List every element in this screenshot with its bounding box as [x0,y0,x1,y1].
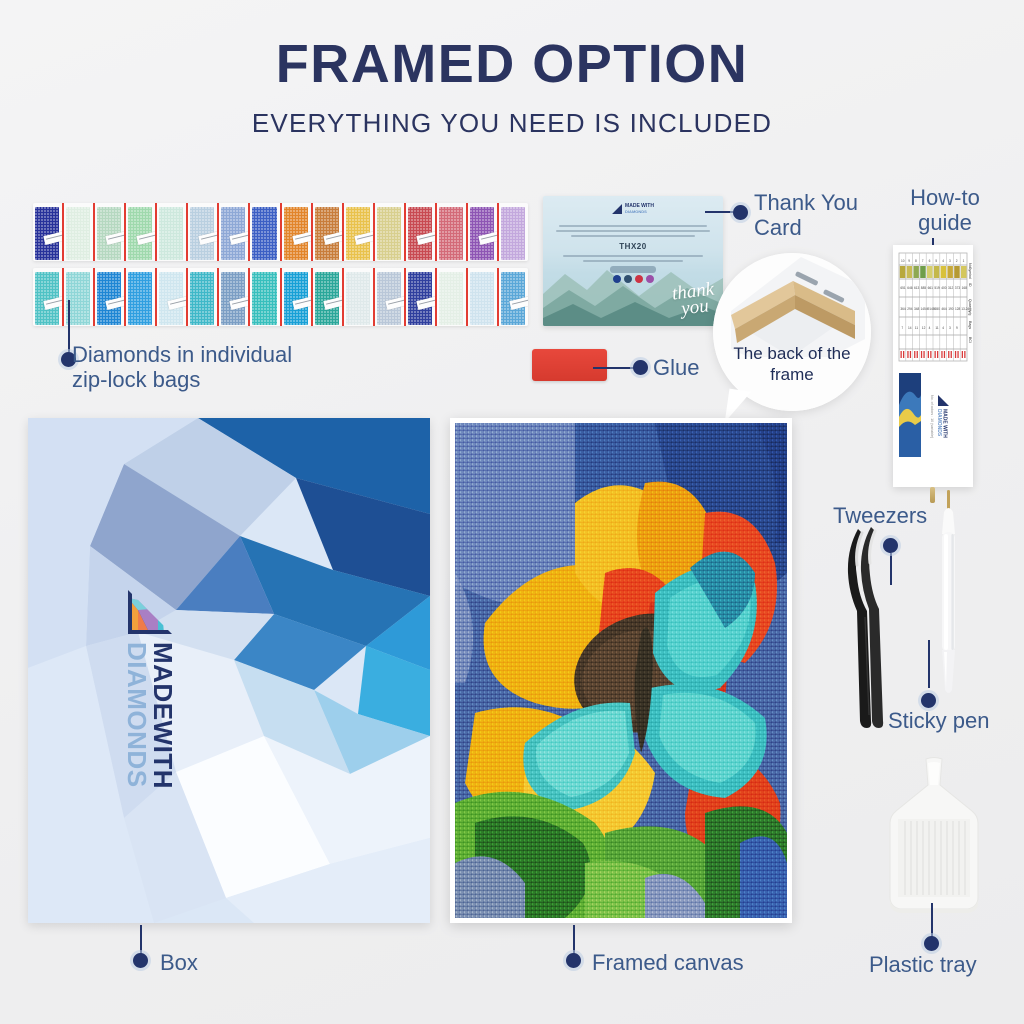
card-body-line [556,230,710,232]
leader-diamonds [68,300,70,352]
tweezers-item [845,525,905,730]
framed-canvas [450,418,792,923]
callout-sticky-pen: Sticky pen [888,708,990,733]
diamond-bag [157,268,188,326]
svg-text:10: 10 [901,259,905,263]
svg-text:7: 7 [901,326,903,330]
card-promo-code: THX20 [553,242,713,251]
svg-text:650: 650 [935,307,941,311]
diamond-bag [344,268,375,326]
svg-text:11: 11 [915,326,919,330]
svg-text:651: 651 [900,286,906,290]
diamond-bag [250,268,281,326]
svg-text:190: 190 [948,307,954,311]
plastic-tray-illustration [874,757,994,932]
frame-back-bubble: The back of the frame [713,253,871,411]
svg-text:ID: ID [968,283,972,287]
svg-text:168: 168 [962,286,968,290]
card-body-line [559,225,706,227]
diamond-bag [219,203,250,261]
diamond-bag [33,268,64,326]
card-body-line [563,255,704,257]
svg-text:400: 400 [941,286,947,290]
diamond-bag [406,203,437,261]
card-logo: MADE WITH DIAMONDS [612,204,654,214]
page-subtitle: EVERYTHING YOU NEED IS INCLUDED [0,108,1024,139]
diamond-bag [188,268,219,326]
diamond-bag [250,203,281,261]
diamond-bag [468,268,499,326]
sticky-pen-item [935,490,963,700]
svg-text:4: 4 [942,326,944,330]
callout-dot-plastic-tray [924,936,939,951]
svg-text:7: 7 [922,259,924,263]
leader-plastic-tray [931,903,933,939]
tweezers-illustration [845,525,905,730]
facebook-icon [613,275,621,283]
svg-text:4: 4 [942,259,944,263]
svg-text:11: 11 [935,326,939,330]
diamond-bag [64,203,95,261]
card-script-text: thank you [671,281,717,318]
callout-tweezers: Tweezers [833,503,927,528]
svg-text:4: 4 [929,326,931,330]
diamond-bag [499,268,528,326]
svg-text:No. of colors : 10 (variable): No. of colors : 10 (variable) [930,395,934,438]
card-handle [610,266,656,273]
callout-dot-sticky-pen [921,693,936,708]
svg-text:613: 613 [914,286,920,290]
instagram-icon [646,275,654,283]
leader-thank-you [705,211,733,213]
diamond-bag [282,268,313,326]
diamond-bag [313,268,344,326]
callout-dot-box [133,953,148,968]
product-box: MADEWITH DIAMONDS [28,418,430,923]
svg-text:464: 464 [941,307,947,311]
callout-how-to: How-to guide [890,185,1000,236]
diamond-bag [126,203,157,261]
svg-text:3: 3 [949,326,951,330]
svg-text:646: 646 [907,286,913,290]
diamond-bag [282,203,313,261]
twitter-icon [624,275,632,283]
svg-text:294: 294 [907,307,913,311]
plastic-tray-item [874,757,994,932]
diamond-bag [157,203,188,261]
frame-back-photo [713,253,871,411]
diamond-bag [188,203,219,261]
canvas-artwork [455,423,787,918]
svg-text:312: 312 [948,286,954,290]
svg-text:661: 661 [928,286,934,290]
callout-framed-canvas: Framed canvas [592,950,744,975]
pinterest-icon [635,275,643,283]
callout-plastic-tray: Plastic tray [869,952,977,977]
svg-text:3: 3 [949,259,951,263]
svg-text:9: 9 [956,326,958,330]
callout-dot-glue [633,360,648,375]
diamond-bag [95,268,126,326]
card-body-line [583,260,682,262]
infographic-stage: FRAMED OPTION EVERYTHING YOU NEED IS INC… [0,0,1024,1024]
diamond-bag [33,203,64,261]
callout-diamonds: Diamonds in individual zip-lock bags [72,342,352,393]
svg-text:14: 14 [908,326,912,330]
diamond-mesh-overlay [455,423,787,918]
how-to-guide: 1098 765 432 1 651646613 885661519 40031… [893,245,973,487]
callout-box: Box [160,950,198,975]
callout-dot-tweezers [883,538,898,553]
diamond-bag [375,203,406,261]
diamond-bag [313,203,344,261]
svg-text:6: 6 [929,259,931,263]
diamond-bag [375,268,406,326]
leader-sticky-pen [928,640,930,688]
svg-text:Symbol: Symbol [968,267,972,279]
callout-dot-thank-you [733,205,748,220]
callout-dot-framed-canvas [566,953,581,968]
sticky-pen-illustration [935,490,963,700]
brand-mark-icon [612,204,622,214]
diamond-bags-row-1 [33,203,528,261]
box-wordmark: MADEWITH DIAMONDS [124,642,176,789]
diamond-bag [437,203,468,261]
box-brand-logo: MADEWITH DIAMONDS [124,590,176,789]
callout-glue: Glue [653,355,699,380]
callout-thank-you: Thank You Card [754,190,904,241]
svg-text:DIAMONDS: DIAMONDS [936,409,942,437]
page-title: FRAMED OPTION [0,33,1024,95]
card-body: THX20 [553,222,713,283]
svg-text:1: 1 [963,259,965,263]
svg-text:5: 5 [935,259,937,263]
card-logo-text: MADE WITH DIAMONDS [625,204,654,213]
svg-text:373: 373 [955,286,961,290]
svg-text:12: 12 [922,326,926,330]
svg-text:128: 128 [955,307,961,311]
svg-text:364: 364 [900,307,906,311]
diamond-bag [406,268,437,326]
diamond-bags-row-2 [33,268,528,326]
svg-text:9: 9 [908,259,910,263]
diamond-bag [437,268,468,326]
svg-text:348: 348 [914,307,920,311]
svg-text:8: 8 [915,259,917,263]
glue-item [532,349,607,381]
svg-text:885: 885 [921,286,927,290]
bubble-caption: The back of the frame [713,344,871,385]
leader-tweezers [890,553,892,585]
svg-text:519: 519 [934,286,940,290]
diamond-bag [344,203,375,261]
thank-you-card: MADE WITH DIAMONDS THX20 thank you [543,196,723,326]
guide-color-chart: 1098 765 432 1 651646613 885661519 40031… [893,245,973,487]
diamond-bag [219,268,250,326]
svg-text:2: 2 [956,259,958,263]
diamond-bag [95,203,126,261]
diamond-bag [126,268,157,326]
box-geometric-pattern [28,418,430,923]
svg-text:BCI: BCI [968,337,972,343]
svg-text:Bags: Bags [968,321,972,329]
diamond-bag [499,203,528,261]
svg-text:Quantity/g: Quantity/g [968,299,972,315]
brand-mark-icon [128,590,172,634]
diamond-bag [468,203,499,261]
card-body-line [571,235,696,237]
